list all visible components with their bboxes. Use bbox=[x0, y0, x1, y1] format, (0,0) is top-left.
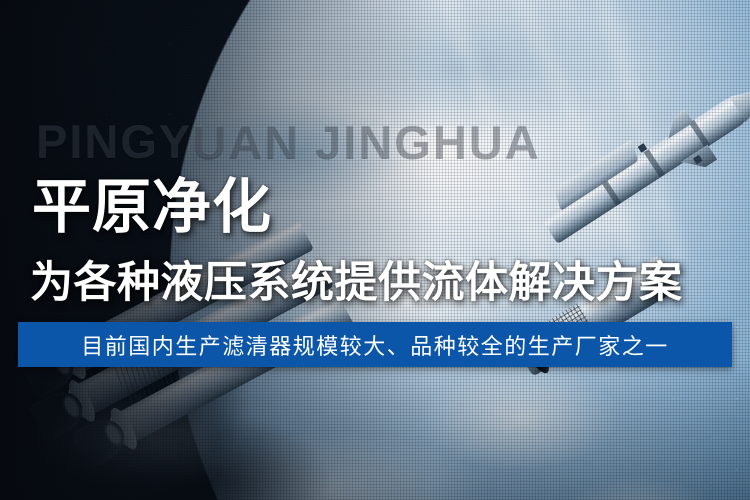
promo-banner: PINGYUAN JINGHUA 平原净化 为各种液压系统提供流体解决方案 目前… bbox=[0, 0, 750, 500]
tagline-bar: 目前国内生产滤清器规模较大、品种较全的生产厂家之一 bbox=[18, 322, 732, 367]
tagline-text: 目前国内生产滤清器规模较大、品种较全的生产厂家之一 bbox=[81, 329, 669, 361]
banner-subtitle: 为各种液压系统提供流体解决方案 bbox=[30, 262, 683, 305]
company-name-title: 平原净化 bbox=[32, 178, 272, 237]
background-watermark-text: PINGYUAN JINGHUA bbox=[36, 118, 541, 165]
banner-text-block: PINGYUAN JINGHUA 平原净化 为各种液压系统提供流体解决方案 目前… bbox=[0, 0, 750, 500]
